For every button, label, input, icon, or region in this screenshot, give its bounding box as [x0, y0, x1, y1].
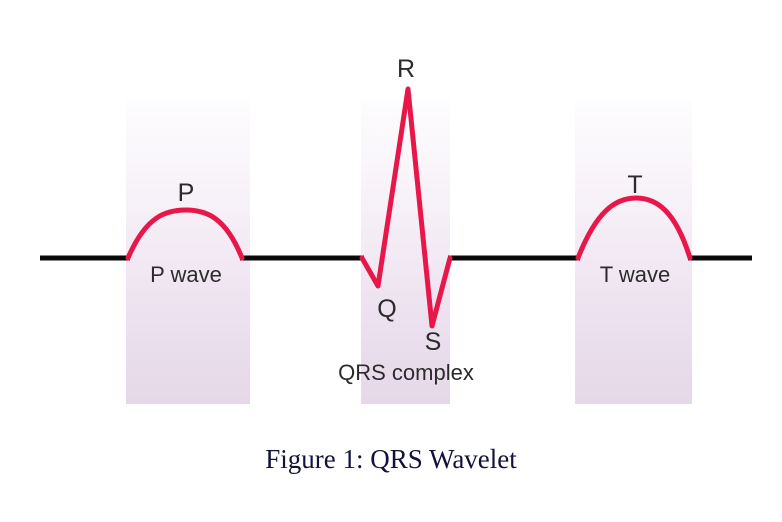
r-peak-label: R [397, 57, 415, 82]
qrs-complex-highlight-band [361, 100, 450, 404]
ecg-diagram: P R Q S T P wave QRS complex T wave [0, 0, 782, 430]
p-wave-highlight-band [126, 100, 250, 404]
t-wave-highlight-band [575, 100, 692, 404]
p-peak-label: P [178, 181, 195, 206]
s-peak-label: S [425, 330, 442, 355]
p-wave-region-label: P wave [150, 264, 222, 286]
figure-container: P R Q S T P wave QRS complex T wave Figu… [0, 0, 782, 522]
t-peak-label: T [627, 173, 642, 198]
t-wave-region-label: T wave [600, 264, 671, 286]
qrs-complex-region-label: QRS complex [338, 362, 474, 384]
q-peak-label: Q [377, 297, 396, 322]
figure-caption: Figure 1: QRS Wavelet [0, 443, 782, 475]
